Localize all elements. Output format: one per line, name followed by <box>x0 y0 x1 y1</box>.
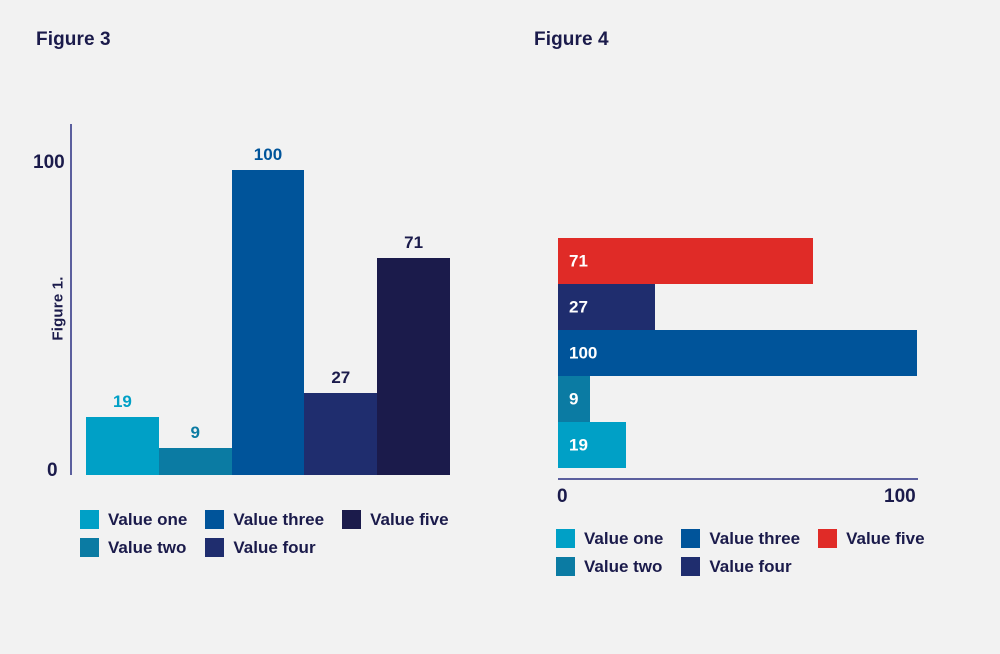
legend-swatch-icon <box>556 529 575 548</box>
legend-item-label: Value five <box>846 530 924 547</box>
legend-item[interactable]: Value five <box>818 524 924 552</box>
legend-item[interactable]: Value one <box>556 524 663 552</box>
figure-4-title: Figure 4 <box>534 29 609 51</box>
figure-4-bar-value-label: 71 <box>569 253 588 270</box>
legend-item[interactable]: Value two <box>556 552 663 580</box>
figure-4-bar[interactable] <box>558 330 917 376</box>
figure-4-bar-value-label: 27 <box>569 299 588 316</box>
figure-4-legend: Value oneValue twoValue threeValue fourV… <box>556 524 925 580</box>
figure-4-bar-slot: 100 <box>558 330 917 376</box>
figure-4-plot-area: 7127100919 <box>558 238 917 468</box>
legend-swatch-icon <box>818 529 837 548</box>
legend-swatch-icon <box>681 529 700 548</box>
figure-4-bar[interactable] <box>558 238 813 284</box>
figure-4-x-tick-0: 0 <box>557 486 568 508</box>
figure-4-bar-value-label: 9 <box>569 391 578 408</box>
figure-4-bar-slot: 19 <box>558 422 917 468</box>
legend-item-label: Value two <box>584 558 662 575</box>
legend-item[interactable]: Value three <box>681 524 800 552</box>
figure-4-bar-slot: 27 <box>558 284 917 330</box>
figures-page: Figure 3 100 0 Figure 1. 1991002771 Valu… <box>0 0 1000 654</box>
legend-swatch-icon <box>556 557 575 576</box>
legend-item-label: Value one <box>584 530 663 547</box>
legend-item-label: Value three <box>709 530 800 547</box>
figure-4-bar-slot: 9 <box>558 376 917 422</box>
figure-4-bar-slot: 71 <box>558 238 917 284</box>
figure-4-bar-value-label: 19 <box>569 437 588 454</box>
figure-4-x-tick-100: 100 <box>884 486 916 508</box>
figure-4-x-axis-line <box>558 478 918 480</box>
figure-4-chart: Figure 4 7127100919 0 100 Value oneValue… <box>0 0 1000 600</box>
figure-4-bar-value-label: 100 <box>569 345 597 362</box>
legend-item-label: Value four <box>709 558 791 575</box>
legend-swatch-icon <box>681 557 700 576</box>
legend-item[interactable]: Value four <box>681 552 800 580</box>
